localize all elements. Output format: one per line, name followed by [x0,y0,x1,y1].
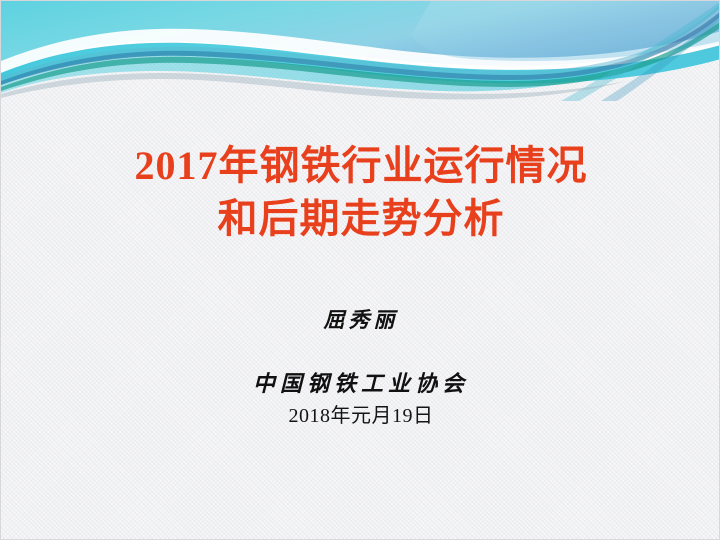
wave-corner-line-b [601,13,720,101]
presentation-slide: 2017年钢铁行业运行情况 和后期走势分析 屈秀丽 中国钢铁工业协会 2018年… [0,0,720,540]
organization-name: 中国钢铁工业协会 [1,369,720,398]
wave-corner-line-a [561,1,720,101]
wave-top-field [1,1,720,79]
organization-block: 中国钢铁工业协会 [1,369,720,398]
presenter-name: 屈秀丽 [1,307,720,333]
wave-accent-ribbon-light [1,3,720,80]
title-line-1: 2017年钢铁行业运行情况 [1,139,720,192]
presentation-date: 2018年元月19日 [1,403,720,429]
slide-background-texture [1,1,719,539]
wave-white-sweep [1,29,720,73]
date-block: 2018年元月19日 [1,403,720,429]
wave-bright-band [1,43,720,85]
wave-banner-decoration [1,1,720,101]
wave-accent-ribbon-teal [1,21,720,91]
wave-banner-svg [1,1,720,101]
wave-lower-wedge [1,56,613,93]
presenter-block: 屈秀丽 [1,307,720,333]
wave-bottom-hairline [1,73,626,99]
wave-accent-ribbon-navy [1,11,720,85]
wave-upper-right-tint [411,1,720,61]
slide-title: 2017年钢铁行业运行情况 和后期走势分析 [1,139,720,245]
title-line-2: 和后期走势分析 [1,192,720,245]
